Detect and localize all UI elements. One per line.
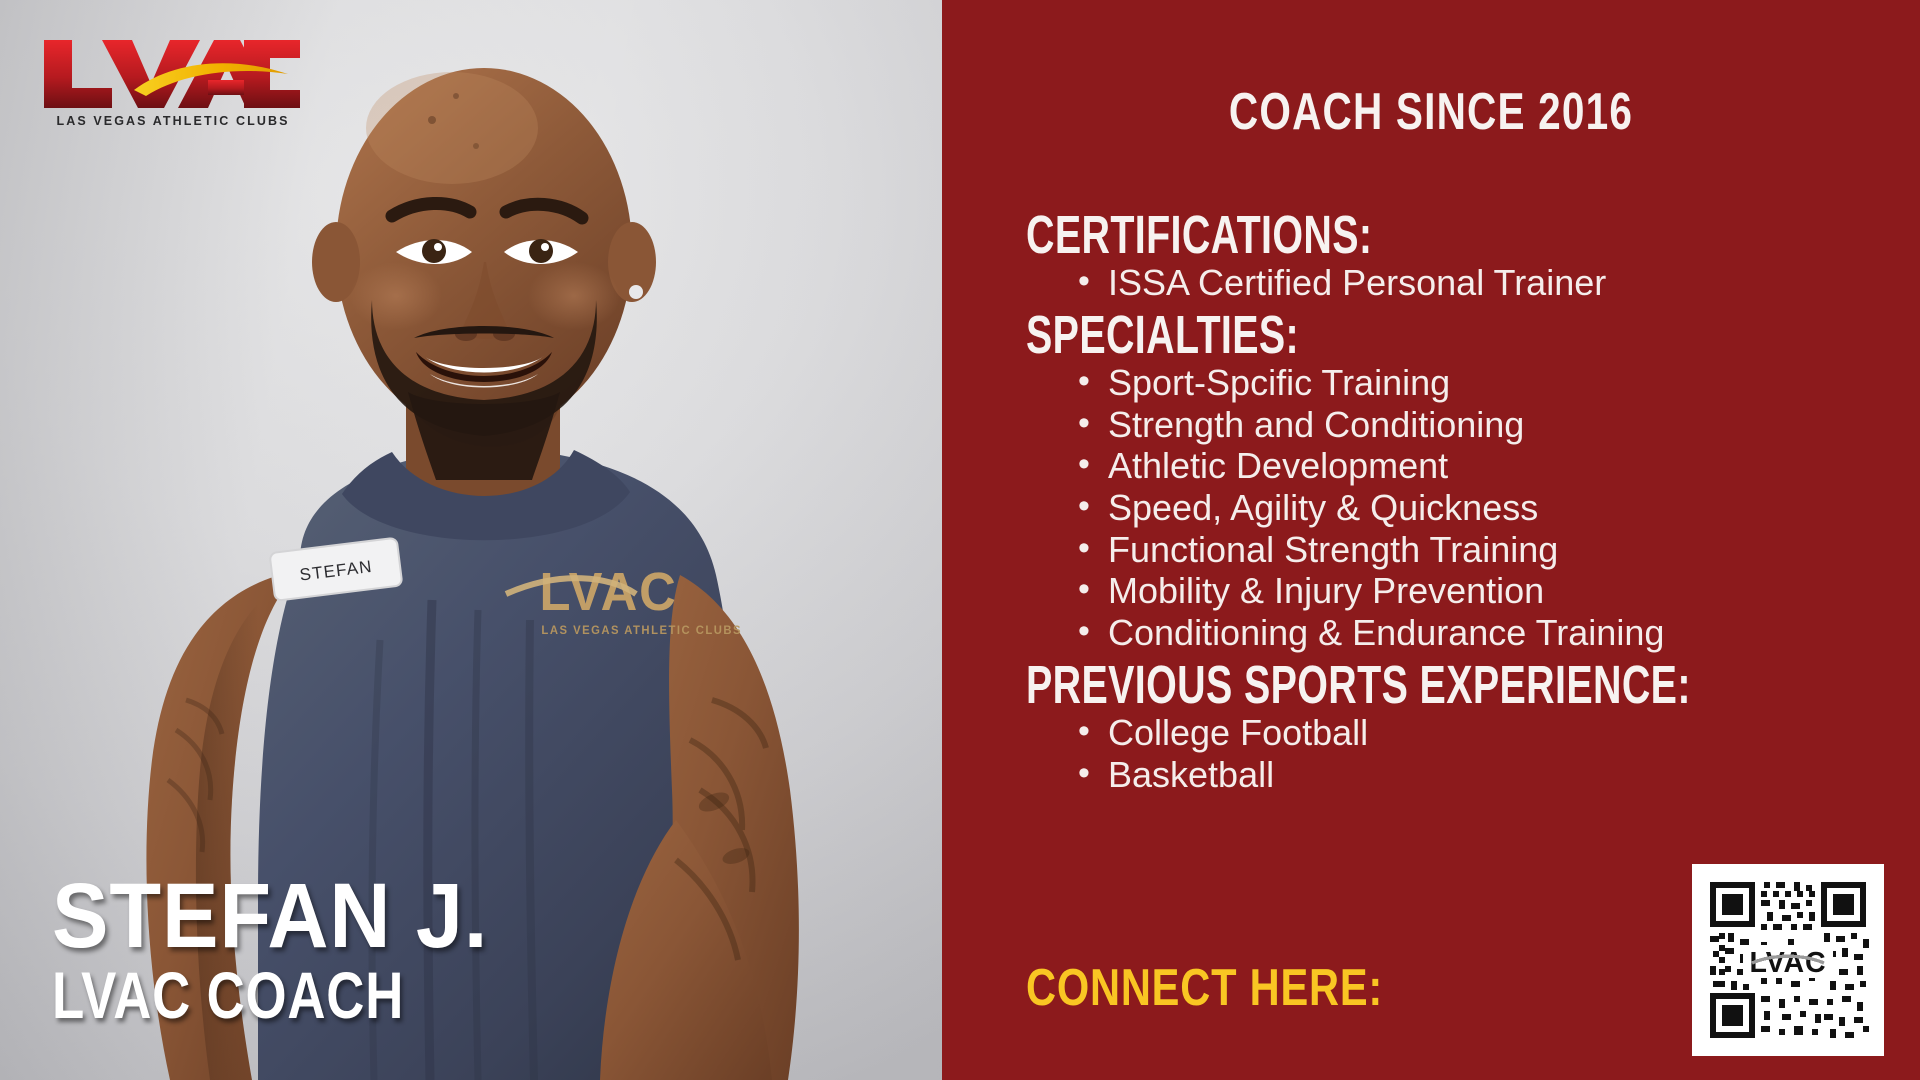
coach-info-pane: COACH SINCE 2016 CERTIFICATIONS: ISSA Ce… (942, 0, 1920, 1080)
coach-name-block: STEFAN J. LVAC COACH (52, 872, 526, 1028)
section-previous-sports-experience: PREVIOUS SPORTS EXPERIENCE: College Foot… (1026, 658, 1894, 794)
list-item: ISSA Certified Personal Trainer (1078, 265, 1894, 302)
svg-text:LVAC: LVAC (540, 563, 678, 623)
svg-text:LVAC: LVAC (1750, 947, 1827, 979)
list-item: Mobility & Injury Prevention (1078, 573, 1894, 610)
qr-code[interactable]: LVAC (1692, 864, 1884, 1056)
coach-role: LVAC COACH (52, 962, 431, 1028)
section-certifications: CERTIFICATIONS: ISSA Certified Personal … (1026, 208, 1894, 302)
section-heading-previous-sports-experience: PREVIOUS SPORTS EXPERIENCE: (1026, 658, 1660, 713)
list-item: College Football (1078, 715, 1894, 752)
list-item: Athletic Development (1078, 448, 1894, 485)
list-item: Functional Strength Training (1078, 532, 1894, 569)
specialties-list: Sport-Spcific Training Strength and Cond… (1026, 365, 1894, 652)
list-item: Conditioning & Endurance Training (1078, 615, 1894, 652)
previous-sports-list: College Football Basketball (1026, 715, 1894, 793)
coach-profile-poster: STEFAN LVAC LAS VEGAS ATHLETIC CLUBS (0, 0, 1920, 1080)
list-item: Speed, Agility & Quickness (1078, 490, 1894, 527)
section-heading-certifications: CERTIFICATIONS: (1026, 208, 1660, 263)
certifications-list: ISSA Certified Personal Trainer (1026, 265, 1894, 302)
list-item: Strength and Conditioning (1078, 407, 1894, 444)
coach-photo-pane: STEFAN LVAC LAS VEGAS ATHLETIC CLUBS (0, 0, 942, 1080)
list-item: Basketball (1078, 757, 1894, 794)
svg-text:LAS VEGAS ATHLETIC CLUBS: LAS VEGAS ATHLETIC CLUBS (541, 624, 742, 637)
lvac-logo: LAS VEGAS ATHLETIC CLUBS (38, 30, 308, 130)
svg-text:LAS VEGAS ATHLETIC CLUBS: LAS VEGAS ATHLETIC CLUBS (56, 114, 289, 128)
coach-since-heading: COACH SINCE 2016 (1050, 82, 1813, 142)
connect-here-label: CONNECT HERE: (1026, 958, 1383, 1018)
section-specialties: SPECIALTIES: Sport-Spcific Training Stre… (1026, 308, 1894, 652)
coach-details-sections: CERTIFICATIONS: ISSA Certified Personal … (1026, 208, 1894, 799)
section-heading-specialties: SPECIALTIES: (1026, 308, 1660, 363)
list-item: Sport-Spcific Training (1078, 365, 1894, 402)
coach-name: STEFAN J. (52, 872, 488, 960)
